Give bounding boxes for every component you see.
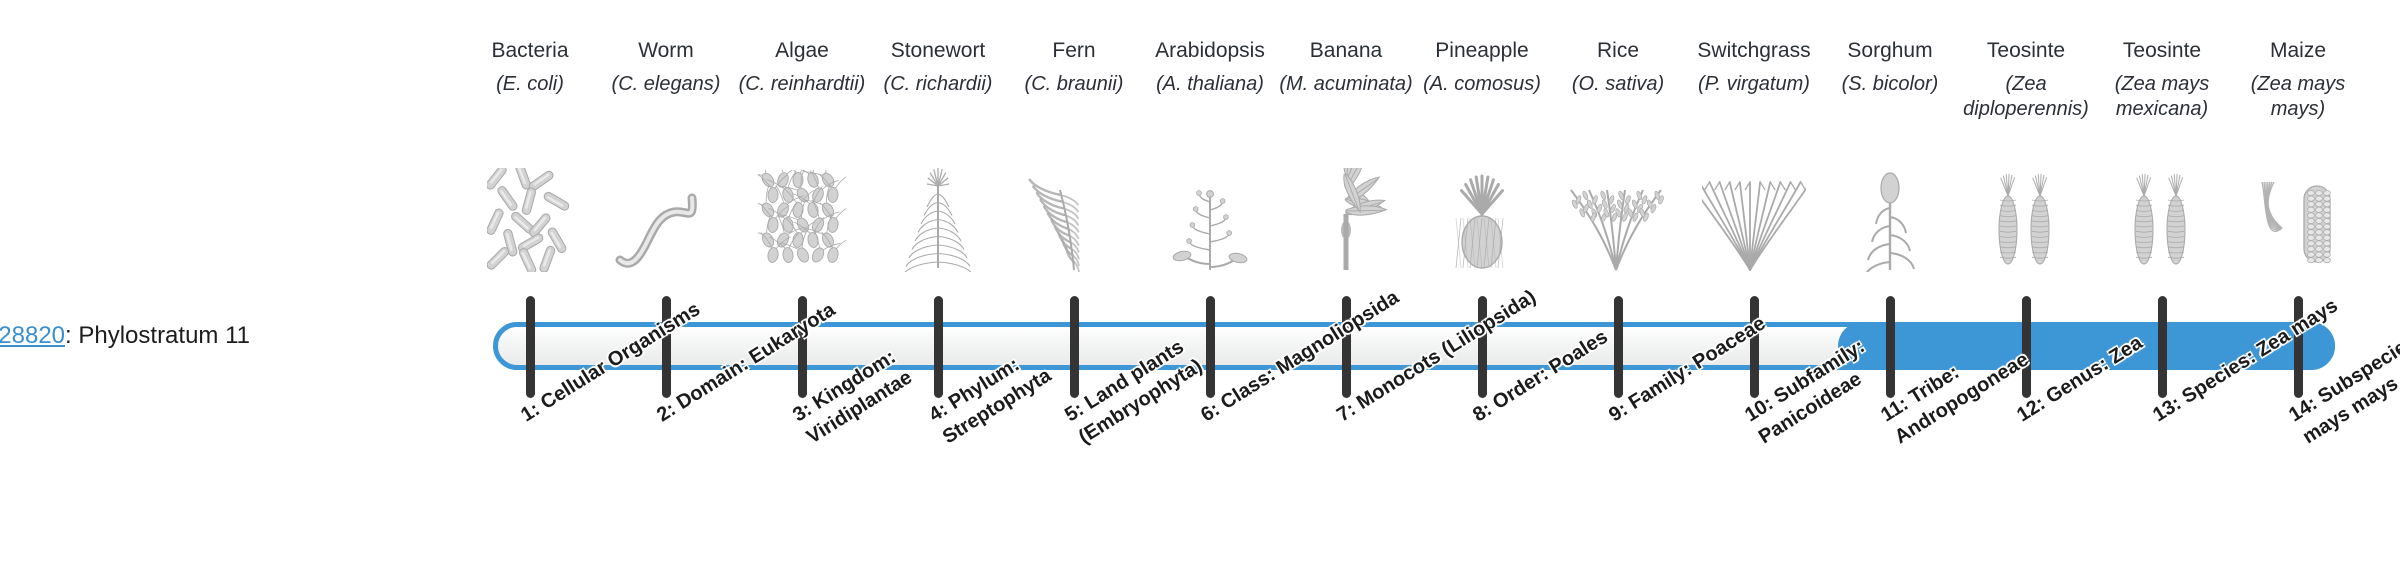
bacteria-icon <box>470 180 590 272</box>
species-common-name: Banana <box>1278 38 1414 64</box>
stratum-number: 12: <box>2013 392 2049 426</box>
stratum-tick-1[interactable] <box>526 296 535 398</box>
species-column-algae: Algae(C. reinhardtii) <box>734 38 870 122</box>
species-common-name: Algae <box>734 38 870 64</box>
gene-caption: Zm00001eb128820: Phylostratum 11 <box>0 322 250 350</box>
species-latin-name: (O. sativa) <box>1550 72 1686 122</box>
species-common-name: Arabidopsis <box>1142 38 1278 64</box>
stratum-number: 2: <box>653 398 680 426</box>
species-latin-name: (A. comosus) <box>1414 72 1550 122</box>
species-common-name: Rice <box>1550 38 1686 64</box>
species-column-sorghum: Sorghum(S. bicolor) <box>1822 38 1958 122</box>
species-common-name: Teosinte <box>2094 38 2230 64</box>
species-column-switchgrass: Switchgrass(P. virgatum) <box>1686 38 1822 122</box>
stratum-number: 3: <box>789 398 816 426</box>
species-column-teosinte: Teosinte(Zea mays mexicana) <box>2094 38 2230 122</box>
species-column-maize: Maize(Zea mays mays) <box>2230 38 2366 122</box>
species-latin-name: (C. braunii) <box>1006 72 1142 122</box>
species-common-name: Sorghum <box>1822 38 1958 64</box>
gene-phylostratum-label: Phylostratum 11 <box>78 322 250 349</box>
rice-plant-icon <box>1558 180 1678 272</box>
species-column-rice: Rice(O. sativa) <box>1550 38 1686 122</box>
algae-cells-icon <box>742 180 862 272</box>
species-row: Bacteria(E. coli)Worm(C. elegans) Algae(… <box>0 0 2400 305</box>
species-column-pineapple: Pineapple(A. comosus) <box>1414 38 1550 122</box>
arabidopsis-icon <box>1150 180 1270 272</box>
switchgrass-icon <box>1694 180 1814 272</box>
species-latin-name: (C. elegans) <box>598 72 734 122</box>
species-latin-name: (S. bicolor) <box>1822 72 1958 122</box>
stonewort-icon <box>878 180 998 272</box>
sorghum-icon <box>1830 180 1950 272</box>
species-column-arabidopsis: Arabidopsis(A. thaliana) <box>1142 38 1278 122</box>
fern-frond-icon <box>1014 180 1134 272</box>
species-latin-name: (C. richardii) <box>870 72 1006 122</box>
species-common-name: Teosinte <box>1958 38 2094 64</box>
species-latin-name: (E. coli) <box>462 72 598 122</box>
species-column-bacteria: Bacteria(E. coli) <box>462 38 598 122</box>
pineapple-icon <box>1422 180 1542 272</box>
species-latin-name: (Zea mays mexicana) <box>2094 72 2230 122</box>
species-column-fern: Fern(C. braunii) <box>1006 38 1142 122</box>
species-common-name: Fern <box>1006 38 1142 64</box>
species-common-name: Bacteria <box>462 38 598 64</box>
species-common-name: Pineapple <box>1414 38 1550 64</box>
teosinte-ears-icon <box>1966 180 2086 272</box>
stratum-number: 4: <box>925 398 952 426</box>
stratum-number: 7: <box>1333 398 1360 426</box>
stratum-number: 9: <box>1605 398 1632 426</box>
species-common-name: Worm <box>598 38 734 64</box>
species-latin-name: (Zea diploperennis) <box>1958 72 2094 122</box>
stratum-number: 6: <box>1197 398 1224 426</box>
species-latin-name: (C. reinhardtii) <box>734 72 870 122</box>
species-common-name: Stonewort <box>870 38 1006 64</box>
species-latin-name: (Zea mays mays) <box>2230 72 2366 122</box>
species-column-stonewort: Stonewort(C. richardii) <box>870 38 1006 122</box>
species-column-teosinte: Teosinte(Zea diploperennis) <box>1958 38 2094 122</box>
maize-ear-icon <box>2238 180 2358 272</box>
stratum-number: 1: <box>517 398 544 426</box>
teosinte-mexicana-icon <box>2102 180 2222 272</box>
banana-plant-icon <box>1286 180 1406 272</box>
gene-id-link[interactable]: Zm00001eb128820 <box>0 322 65 349</box>
species-common-name: Switchgrass <box>1686 38 1822 64</box>
species-latin-name: (M. acuminata) <box>1278 72 1414 122</box>
species-latin-name: (P. virgatum) <box>1686 72 1822 122</box>
stratum-number: 8: <box>1469 398 1496 426</box>
species-common-name: Maize <box>2230 38 2366 64</box>
species-column-banana: Banana(M. acuminata) <box>1278 38 1414 122</box>
species-column-worm: Worm(C. elegans) <box>598 38 734 122</box>
nematode-worm-icon <box>606 180 726 272</box>
stratum-number: 5: <box>1061 398 1088 426</box>
phylostratum-timeline: Bacteria(E. coli)Worm(C. elegans) Algae(… <box>0 0 2400 580</box>
gene-caption-separator: : <box>65 322 78 349</box>
stratum-number: 13: <box>2149 392 2185 426</box>
species-latin-name: (A. thaliana) <box>1142 72 1278 122</box>
